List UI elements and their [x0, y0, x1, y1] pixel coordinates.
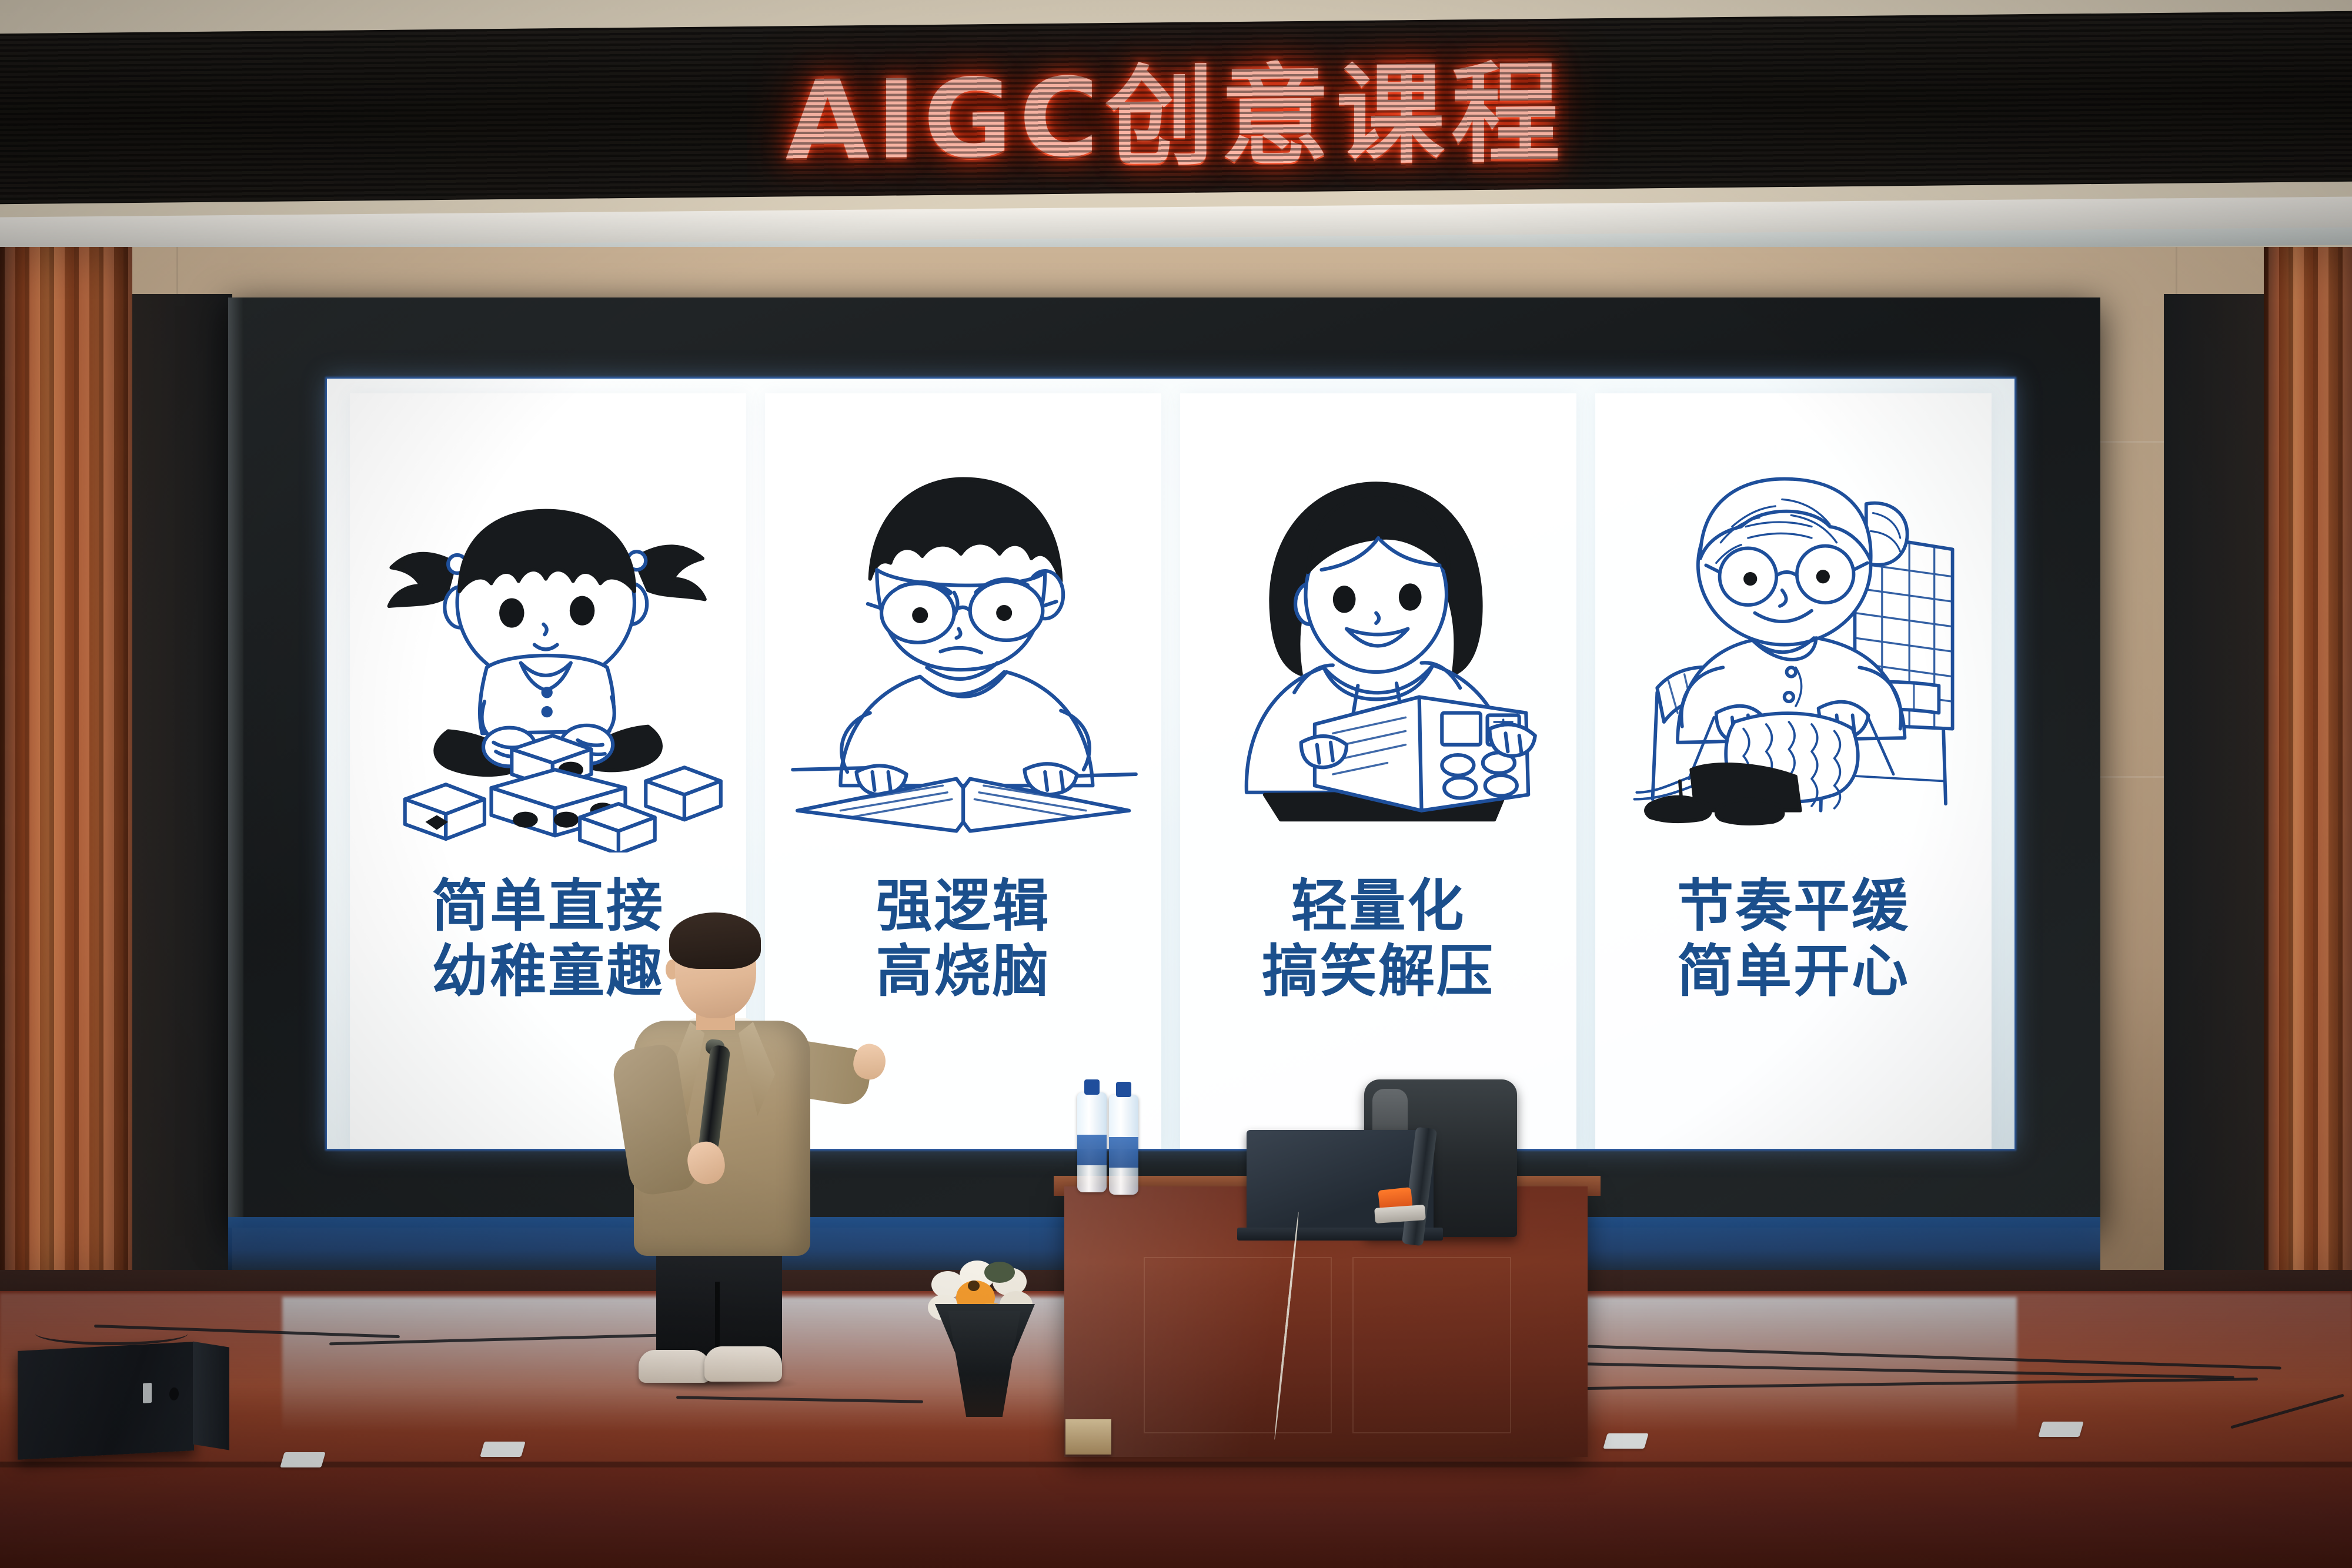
- caption-line-2: 简单开心: [1677, 939, 1910, 1004]
- slide-panel-row: 简单直接 幼稚童趣: [350, 394, 1991, 1149]
- stage-apron: [0, 1467, 2352, 1568]
- stage-wing-right: [2164, 294, 2264, 1270]
- led-banner-text: AIGC创意课程: [0, 18, 2352, 198]
- caption-line-2: 高烧脑: [876, 939, 1051, 1004]
- stage-curtain-left: [0, 247, 132, 1282]
- monitor-led-icon: [143, 1383, 152, 1403]
- monitor-side-panel: [193, 1342, 229, 1450]
- floor-cable: [35, 1322, 188, 1345]
- bottle-cap-icon: [1084, 1079, 1100, 1095]
- floor-tape-marker: [1603, 1433, 1648, 1449]
- flower-center: [968, 1281, 980, 1291]
- bottle-cap-icon: [1116, 1082, 1131, 1097]
- stage-curtain-right: [2264, 247, 2352, 1282]
- slide-panel-4: 节奏平缓 简单开心: [1596, 394, 1991, 1149]
- presenter-shoe-right: [704, 1346, 782, 1382]
- projection-screen-frame: 简单直接 幼稚童趣: [228, 297, 2100, 1228]
- water-bottle: [1109, 1095, 1138, 1195]
- caption-line-1: 强逻辑: [876, 873, 1051, 939]
- floor-tape-marker: [280, 1452, 325, 1467]
- illustration-grandmother-knitting: [1596, 394, 1991, 858]
- stage-monitor-speaker: [18, 1342, 194, 1460]
- floor-tape-marker: [480, 1442, 525, 1457]
- slide-panel-4-caption: 节奏平缓 简单开心: [1677, 874, 1910, 1005]
- slide-panel-3-caption: 轻量化 搞笑解压: [1262, 874, 1495, 1005]
- illustration-girl-playing-blocks: [350, 394, 746, 858]
- slide-panel-2-caption: 强逻辑 高烧脑: [876, 874, 1051, 1005]
- stage-wing-left: [132, 294, 232, 1270]
- bottle-label: [1109, 1137, 1138, 1168]
- bouquet-wrapper: [943, 1311, 1025, 1417]
- projection-screen: 简单直接 幼稚童趣: [327, 379, 2014, 1149]
- slide-panel-3: 轻量化 搞笑解压: [1181, 394, 1576, 1149]
- presentation-slide: 简单直接 幼稚童趣: [327, 379, 2014, 1149]
- bottle-label: [1077, 1135, 1107, 1165]
- podium-front-panel: [1352, 1257, 1511, 1433]
- flower-bouquet: [917, 1241, 1053, 1417]
- floor-tape-marker: [2038, 1422, 2083, 1437]
- podium-front-panel: [1144, 1257, 1332, 1433]
- water-bottle: [1077, 1092, 1107, 1192]
- presenter: [600, 905, 876, 1388]
- auditorium-scene: AIGC创意课程: [0, 0, 2352, 1568]
- caption-line-1: 轻量化: [1291, 873, 1466, 939]
- foliage: [984, 1262, 1015, 1283]
- illustration-boy-reading-textbook: [766, 394, 1161, 858]
- presenter-shoe-left: [639, 1350, 710, 1383]
- cable-box: [1065, 1419, 1111, 1455]
- caption-line-1: 节奏平缓: [1677, 873, 1910, 939]
- presenter-hair: [669, 912, 761, 969]
- illustration-girl-reading-comic: [1181, 394, 1576, 858]
- monitor-port-icon: [169, 1388, 179, 1401]
- led-banner: AIGC创意课程: [0, 11, 2352, 204]
- caption-line-2: 搞笑解压: [1262, 939, 1495, 1004]
